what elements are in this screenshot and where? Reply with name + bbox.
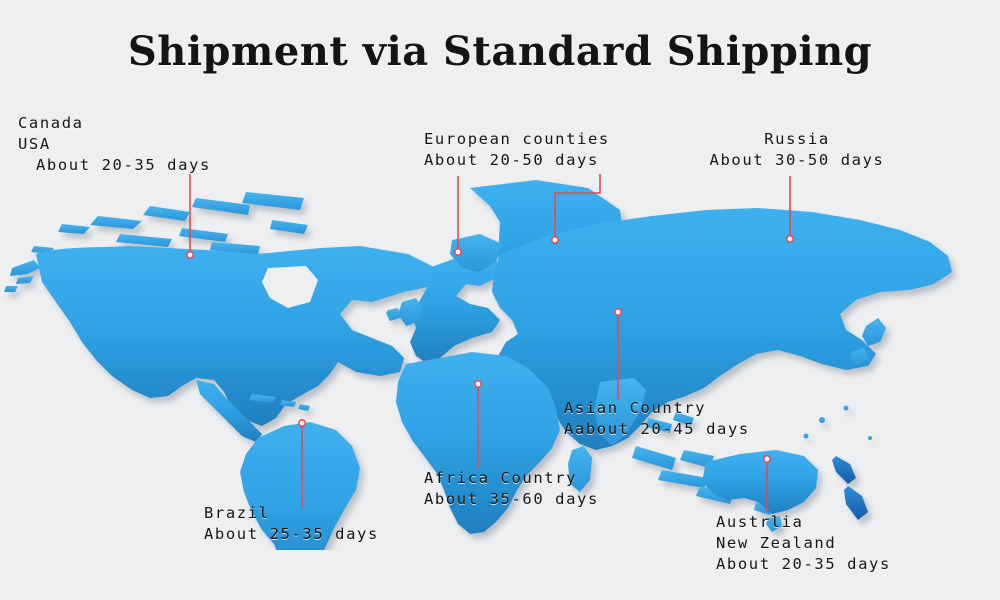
label-russia-duration: About 30-50 days <box>688 150 906 171</box>
label-north-america-line2: USA <box>18 134 211 155</box>
label-brazil: Brazil About 25-35 days <box>204 503 379 545</box>
label-north-america-duration: About 20-35 days <box>18 155 211 176</box>
label-europe-duration: About 20-50 days <box>424 150 610 171</box>
label-russia: Russia About 30-50 days <box>688 129 906 171</box>
label-north-america-line1: Canada <box>18 113 211 134</box>
label-asia-line1: Asian Country <box>564 398 750 419</box>
label-africa: Africa Country About 35-60 days <box>424 468 599 510</box>
label-north-america: Canada USA About 20-35 days <box>18 113 211 176</box>
label-russia-line1: Russia <box>688 129 906 150</box>
land-pacific-islands <box>804 406 873 441</box>
label-brazil-duration: About 25-35 days <box>204 524 379 545</box>
label-oceania-line2: New Zealand <box>716 533 891 554</box>
label-africa-duration: About 35-60 days <box>424 489 599 510</box>
label-europe: European counties About 20-50 days <box>424 129 610 171</box>
label-oceania-duration: About 20-35 days <box>716 554 891 575</box>
label-asia: Asian Country Aabout 20-45 days <box>564 398 750 440</box>
land-new-zealand <box>832 456 868 520</box>
page-title: Shipment via Standard Shipping <box>0 28 1000 75</box>
label-oceania-line1: Austrlia <box>716 512 891 533</box>
label-asia-duration: Aabout 20-45 days <box>564 419 750 440</box>
land-aleutians <box>4 260 40 292</box>
label-africa-line1: Africa Country <box>424 468 599 489</box>
land-british-isles <box>386 298 422 326</box>
label-oceania: Austrlia New Zealand About 20-35 days <box>716 512 891 575</box>
label-europe-line1: European counties <box>424 129 610 150</box>
infographic-canvas: Shipment via Standard Shipping <box>0 0 1000 600</box>
label-brazil-line1: Brazil <box>204 503 379 524</box>
land-north-america <box>36 246 436 426</box>
